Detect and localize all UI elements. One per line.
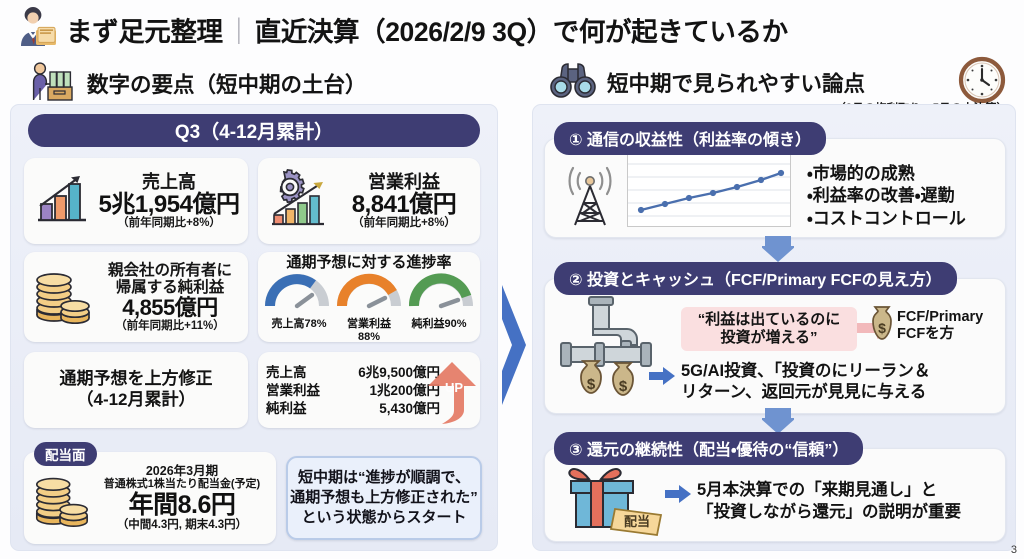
block3-heading: ③ 還元の継続性（配当・優待の“信頼”） <box>554 432 863 465</box>
gauge-net-profit-icon <box>408 273 474 314</box>
block3-body-line2: 「投資しながら還元」の説明が重要 <box>697 501 961 523</box>
card-progress-gauges: 通期予想に対する進捗率 <box>258 252 480 342</box>
operating-profit-sub: （前年同期比+8%） <box>334 217 474 229</box>
fy-value-sales: 6兆9,500億円 <box>328 364 440 382</box>
dividend-value: 年間8.6円 <box>92 491 272 519</box>
right-block-1: 市場的の成熟 利益率の改善・遅勤 コストコントロール ① 通信の収益性（利益率の… <box>544 122 1006 238</box>
block2-quote-line1: “利益は出ているのに <box>687 311 851 329</box>
summary-line2: 通期予想も上方修正された” <box>288 488 480 508</box>
block2-fcf-line1: FCF/Primary <box>897 309 983 326</box>
coin-stack-icon <box>30 461 92 536</box>
fy-value-net: 5,430億円 <box>328 400 440 418</box>
svg-text:$: $ <box>878 320 886 336</box>
fy-key-operating: 営業利益 <box>266 382 328 400</box>
gear-chart-icon <box>264 168 330 235</box>
net-profit-sub: （前年同期比+11%） <box>98 320 242 332</box>
gauge-sales-icon <box>264 273 330 314</box>
dividend-line2: 普通株式1株当たり配当金(予定) <box>92 478 272 490</box>
fy-key-sales: 売上高 <box>266 364 328 382</box>
right-block-2-body: $ $ “利益は出ているのに 投資が増える” $ <box>544 278 1006 414</box>
block2-heading: ② 投資とキャッシュ（FCF/Primary FCFの見え方） <box>554 262 957 295</box>
page-number: 3 <box>1011 544 1017 556</box>
block2-fcf-label: FCF/Primary FCFを方 <box>897 309 983 344</box>
up-arrow-text: UP <box>445 380 463 395</box>
dividend-line1: 2026年3月期 <box>92 464 272 478</box>
card-operating-profit: 営業利益 8,841億円 （前年同期比+8%） <box>258 158 480 244</box>
fy-key-net: 純利益 <box>266 400 328 418</box>
down-arrow-icon <box>762 408 794 434</box>
person-with-archive-icon <box>26 60 78 107</box>
block2-quote: “利益は出ているのに 投資が増える” <box>681 307 857 351</box>
operating-profit-value: 8,841億円 <box>334 192 474 217</box>
page-title: まず足元整理｜直近決算（2026/2/9 3Q）で何が起きているか <box>66 10 788 49</box>
coin-stack-icon <box>30 262 94 333</box>
right-block-2: $ $ “利益は出ているのに 投資が増える” $ <box>544 262 1006 414</box>
slide-title-row: まず足元整理｜直近決算（2026/2/9 3Q）で何が起きているか <box>0 6 1024 52</box>
block1-heading: ① 通信の収益性（利益率の傾き） <box>554 122 826 155</box>
gauge-label-net: 純利益90% <box>406 315 472 343</box>
pipe-and-money-bags-icon: $ $ <box>559 295 671 410</box>
card-upward-revision: 通期予想を上方修正 （4-12月累計） <box>24 352 248 428</box>
right-arrow-icon <box>649 367 675 390</box>
block2-body-line1: 5G/AI投資、「投資のにリーラン＆ <box>681 361 930 382</box>
gauge-operating-profit-icon <box>336 273 402 314</box>
card-net-profit: 親会社の所有者に 帰属する純利益 4,855億円 （前年同期比+11%） <box>24 252 248 342</box>
block1-bullet-3: コストコントロール <box>807 208 966 230</box>
left-section-heading: 数字の要点（短中期の土台） <box>26 60 367 107</box>
binoculars-icon <box>548 60 598 105</box>
svg-text:$: $ <box>619 378 628 395</box>
svg-text:配当: 配当 <box>624 514 650 529</box>
block2-quote-line2: 投資が増える” <box>687 329 851 347</box>
summary-line1: 短中期は“進捗が順調で、 <box>288 468 480 488</box>
gauge-row <box>264 273 474 314</box>
summary-line3: という状態からスタート <box>288 508 480 528</box>
businessman-with-folder-icon <box>14 6 58 53</box>
dividend-badge: 配当面 <box>34 442 97 466</box>
gauge-label-sales: 売上高78% <box>266 315 332 343</box>
q3-ribbon: Q3（4-12月累計） <box>28 114 480 147</box>
left-heading-label: 数字の要点（短中期の土台） <box>87 68 367 99</box>
operating-profit-label: 営業利益 <box>334 173 474 192</box>
slide-root: まず足元整理｜直近決算（2026/2/9 3Q）で何が起きているか 数字の要点（… <box>0 0 1024 559</box>
fy-value-operating: 1兆200億円 <box>328 382 440 400</box>
up-arrow-icon: UP <box>426 360 478 431</box>
dividend-line4: （中間4.3円, 期末4.3円） <box>92 519 272 532</box>
block2-body-line2: リターン、返回元が見見に与える <box>681 382 930 403</box>
right-block-3: 配当 5月本決算での「来期見通し」と 「投資しながら還元」の説明が重要 ③ 還元… <box>544 432 1006 542</box>
net-profit-value: 4,855億円 <box>98 296 242 319</box>
sales-value: 5兆1,954億円 <box>96 192 242 217</box>
gauge-labels: 売上高78% 営業利益88% 純利益90% <box>266 315 472 343</box>
left-to-right-arrow-icon <box>500 285 530 405</box>
antenna-tower-icon <box>559 159 621 234</box>
revise-line2: （4-12月累計） <box>24 390 248 411</box>
block1-bullet-1: 市場的の成熟 <box>807 163 966 185</box>
sales-sub: （前年同期比+8%） <box>96 217 242 229</box>
block2-body-text: 5G/AI投資、「投資のにリーラン＆ リターン、返回元が見見に与える <box>681 361 930 403</box>
progress-title: 通期予想に対する進捗率 <box>286 251 451 272</box>
sales-label: 売上高 <box>96 173 242 192</box>
block3-body-text: 5月本決算での「来期見通し」と 「投資しながら還元」の説明が重要 <box>697 479 961 523</box>
gauge-label-operating: 営業利益88% <box>336 315 402 343</box>
money-bag-icon: $ <box>865 305 899 348</box>
card-summary: 短中期は“進捗が順調で、 通期予想も上方修正された” という状態からスタート <box>286 456 482 540</box>
revise-line1: 通期予想を上方修正 <box>24 369 248 390</box>
net-profit-label-line1: 親会社の所有者に <box>98 262 242 279</box>
block2-fcf-line2: FCFを方 <box>897 326 983 343</box>
right-heading-label: 短中期で見られやすい論点 <box>607 67 865 98</box>
right-section-heading: 短中期で見られやすい論点 <box>548 60 865 105</box>
card-dividend: 配当面 2026年3月期 普通株式1株当 <box>24 452 276 544</box>
card-fy-forecast: UP 売上高 6兆9,500億円 営業利益 1兆200億円 純利益 5,430億… <box>258 352 480 428</box>
svg-text:$: $ <box>587 376 596 393</box>
gift-with-dividend-ticket-icon: 配当 <box>563 463 671 542</box>
block3-body-line1: 5月本決算での「来期見通し」と <box>697 479 961 501</box>
bar-chart-up-icon <box>30 170 92 233</box>
right-arrow-icon <box>665 485 691 508</box>
net-profit-label-line2: 帰属する純利益 <box>98 279 242 296</box>
card-sales: 売上高 5兆1,954億円 （前年同期比+8%） <box>24 158 248 244</box>
profit-trend-line-chart <box>627 151 791 232</box>
block1-bullets: 市場的の成熟 利益率の改善・遅勤 コストコントロール <box>807 163 966 230</box>
down-arrow-icon <box>762 236 794 262</box>
block1-bullet-2: 利益率の改善・遅勤 <box>807 185 966 207</box>
